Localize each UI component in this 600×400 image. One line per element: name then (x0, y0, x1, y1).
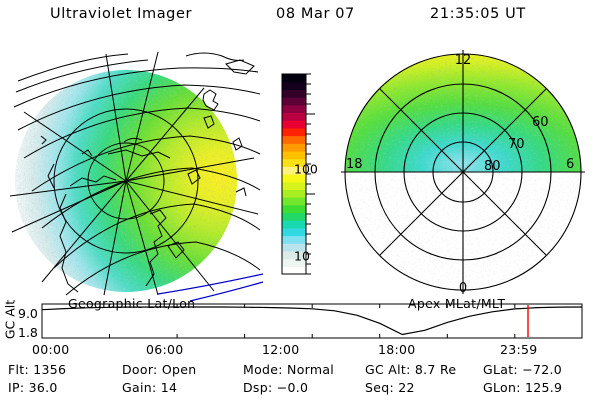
header-bar: Ultraviolet Imager 08 Mar 07 21:35:05 UT (0, 6, 600, 30)
status-field-seq: Seq: 22 (365, 380, 415, 395)
colorbar-swatch (282, 220, 306, 228)
status-field-glon: GLon: 125.9 (483, 380, 562, 395)
time-axis-labels: 00:0006:0012:0018:0023:59 (0, 342, 600, 360)
altitude-axis-label: GC Alt (3, 292, 18, 348)
mlt-label-12: 12 (455, 53, 472, 68)
instrument-title: Ultraviolet Imager (50, 6, 192, 22)
polar-grid (341, 50, 585, 294)
colorbar-swatch (282, 120, 306, 128)
status-readout: Flt: 1356Door: OpenMode: NormalGC Alt: 8… (0, 362, 600, 400)
colorbar-swatch (282, 151, 306, 159)
mlt-label-18: 18 (346, 157, 363, 172)
colorbar-swatch (282, 105, 306, 113)
colorbar-swatch (282, 112, 306, 120)
status-field-flt: Flt: 1356 (8, 362, 66, 377)
colorbar-swatch (282, 97, 306, 105)
colorbar-swatch (282, 182, 306, 190)
colorbar-panel: photon cm-2s-1 100 10 (264, 48, 330, 296)
observation-date: 08 Mar 07 (276, 6, 355, 22)
colorbar-swatch (282, 74, 306, 82)
observation-time: 21:35:05 UT (430, 6, 526, 22)
status-field-door: Door: Open (122, 362, 196, 377)
colorbar-swatch (282, 236, 306, 244)
colorbar-swatch (282, 82, 306, 90)
colorbar-swatch (282, 143, 306, 151)
geographic-image-panel[interactable] (8, 46, 263, 296)
status-field-gc-alt: GC Alt: 8.7 Re (365, 362, 456, 377)
time-tick-label: 12:00 (262, 342, 300, 357)
colorbar-swatch (282, 228, 306, 236)
colorbar-tick-label-100: 100 (294, 162, 318, 177)
colorbar-swatch (282, 136, 306, 144)
time-tick-label: 18:00 (378, 342, 416, 357)
status-field-glat: GLat: −72.0 (483, 362, 562, 377)
mlat-label-80: 80 (484, 159, 501, 174)
status-field-dsp: Dsp: −0.0 (243, 380, 308, 395)
colorbar-swatch (282, 205, 306, 213)
mlat-label-70: 70 (508, 137, 525, 152)
colorbar-swatch (282, 89, 306, 97)
colorbar-swatch (282, 266, 306, 274)
colorbar-swatch (282, 197, 306, 205)
time-tick-label: 06:00 (146, 342, 184, 357)
mlat-label-60: 60 (532, 115, 549, 130)
colorbar-swatch (282, 189, 306, 197)
colorbar-swatch (282, 212, 306, 220)
polar-panel-title: Apex MLat/MLT (408, 296, 505, 311)
colorbar-swatch (282, 128, 306, 136)
altitude-tick-high: 9.0 (18, 306, 38, 321)
mlt-label-6: 6 (566, 157, 574, 172)
polar-plot[interactable]: 12 18 6 0 60 70 80 (332, 46, 594, 298)
status-field-ip: IP: 36.0 (8, 380, 58, 395)
time-tick-label: 00:00 (32, 342, 70, 357)
geographic-panel-title: Geographic Lat/Lon (68, 296, 195, 311)
time-tick-label: 23:59 (500, 342, 538, 357)
polar-mlat-mlt-panel[interactable]: 12 18 6 0 60 70 80 (332, 46, 594, 298)
mlt-label-0: 0 (459, 281, 467, 296)
colorbar-tick-label-10: 10 (294, 249, 310, 264)
altitude-tick-low: 1.8 (18, 325, 38, 340)
status-field-mode: Mode: Normal (243, 362, 334, 377)
geographic-plot[interactable] (8, 46, 263, 296)
status-field-gain: Gain: 14 (122, 380, 177, 395)
